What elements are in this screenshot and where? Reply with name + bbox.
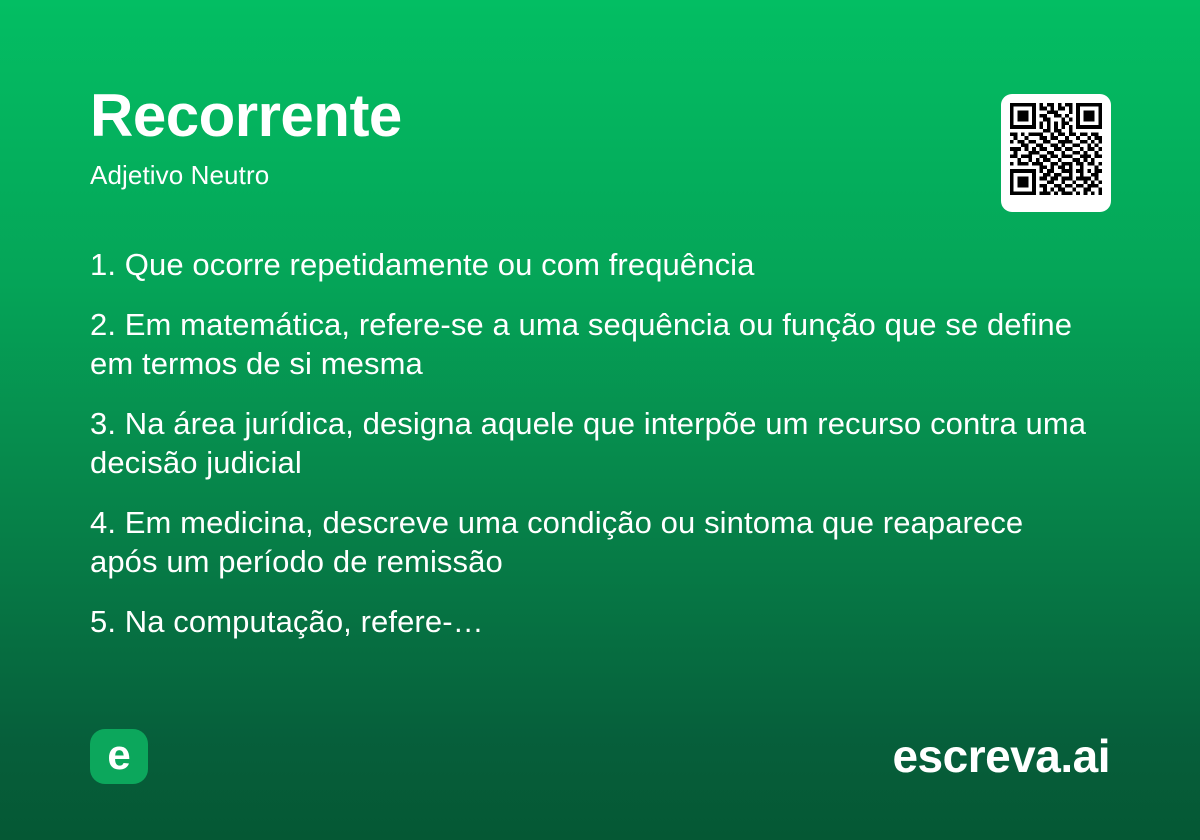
brand-logo: e	[90, 729, 148, 784]
definition-list: 1. Que ocorre repetidamente ou com frequ…	[90, 246, 1095, 642]
brand-wordmark: escreva.ai	[892, 733, 1110, 779]
word-definition-card: Recorrente Adjetivo Neutro 1. Que ocorre…	[0, 0, 1200, 840]
card-header: Recorrente Adjetivo Neutro	[90, 86, 970, 191]
list-item: 2. Em matemática, refere-se a uma sequên…	[90, 306, 1095, 383]
list-item: 4. Em medicina, descreve uma condição ou…	[90, 504, 1095, 581]
qr-code-panel[interactable]	[1001, 94, 1111, 212]
word-class-label: Adjetivo Neutro	[90, 160, 970, 191]
qr-code-icon	[1010, 103, 1102, 195]
page-title: Recorrente	[90, 86, 970, 146]
list-item: 5. Na computação, refere-…	[90, 603, 1095, 641]
brand-logo-letter: e	[107, 734, 130, 776]
card-footer: e escreva.ai	[90, 728, 1110, 784]
list-item: 3. Na área jurídica, designa aquele que …	[90, 405, 1095, 482]
list-item: 1. Que ocorre repetidamente ou com frequ…	[90, 246, 1095, 284]
